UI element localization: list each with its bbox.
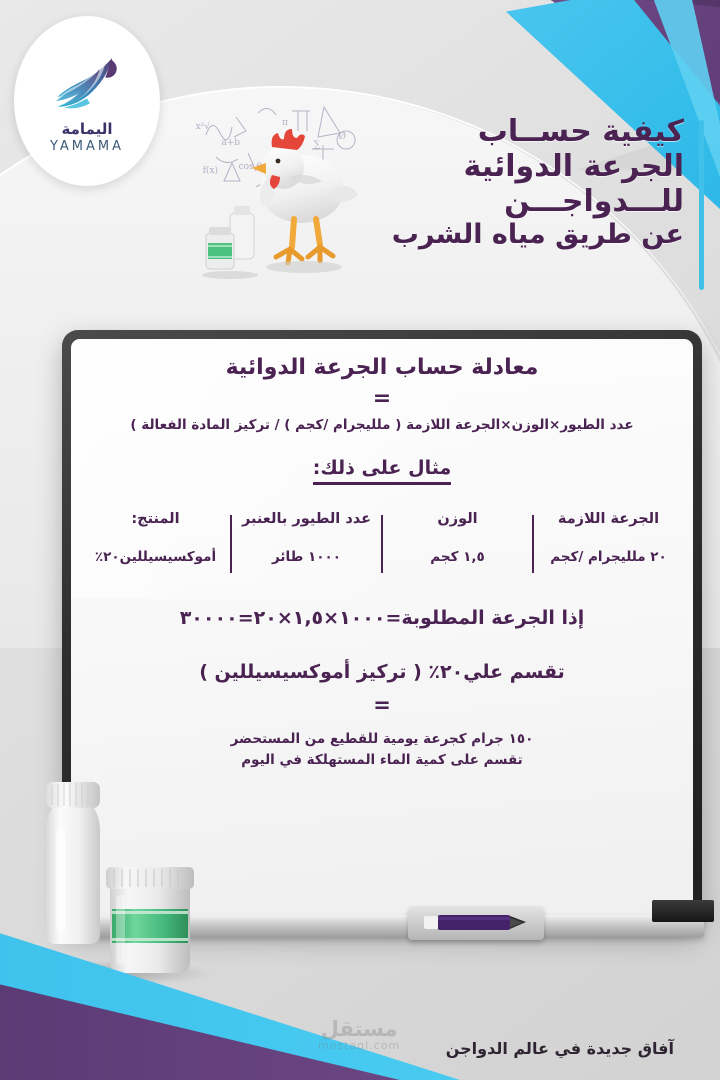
column-value: ١,٥ كجم (386, 549, 529, 565)
hero-illustration: √x² a+b π ∑ Ø f(x) cos θ (196, 95, 386, 280)
logo-text-latin: YAMAMA (50, 139, 124, 154)
medicine-bottles-icon (200, 203, 270, 281)
equation-title: معادلة حساب الجرعة الدوائية (80, 355, 684, 380)
watermark-latin: mostaql.com (318, 1039, 400, 1052)
green-label-jar (102, 865, 198, 983)
hero-title-line-2: الجرعة الدوائية (384, 150, 684, 185)
calculation-line-1: إذا الجرعة المطلوبة=١٠٠٠×١,٥×٢٠=٣٠٠٠٠ (80, 607, 684, 629)
table-column-dose: الجرعة اللازمة ٢٠ ملليجرام /كجم (533, 511, 684, 565)
mostaql-watermark: مستقل mostaql.com (318, 1017, 400, 1052)
example-heading: مثال على ذلك: (313, 457, 452, 485)
equation-body: عدد الطيور×الوزن×الجرعة اللازمة ( ملليجر… (80, 417, 684, 433)
calculation-line-2: تقسم علي٢٠٪ ( تركيز أموكسيسيللين ) (80, 661, 684, 683)
calculation-equals-sign: = (80, 693, 684, 717)
hero-accent-bar (699, 120, 704, 290)
column-header: الوزن (386, 511, 529, 527)
hero-title-line-3: للـــدواجـــن (384, 185, 684, 220)
whiteboard-content: معادلة حساب الجرعة الدوائية = عدد الطيور… (80, 355, 684, 771)
column-header: عدد الطيور بالعنبر (235, 511, 378, 527)
svg-text:f(x): f(x) (203, 165, 218, 176)
table-column-product: المنتج: أموكسيسيللين٢٠٪ (80, 511, 231, 565)
bird-logo-icon (45, 48, 129, 118)
equation-equals-sign: = (80, 386, 684, 411)
watermark-arabic: مستقل (318, 1017, 400, 1041)
table-column-weight: الوزن ١,٥ كجم (382, 511, 533, 565)
calculation-result-line-2: تقسم على كمية الماء المستهلكة في اليوم (80, 750, 684, 771)
table-column-bird-count: عدد الطيور بالعنبر ١٠٠٠ طائر (231, 511, 382, 565)
column-header: الجرعة اللازمة (537, 511, 680, 527)
svg-text:√x²: √x² (196, 121, 210, 132)
dose-table: الجرعة اللازمة ٢٠ ملليجرام /كجم الوزن ١,… (80, 511, 684, 565)
column-value: أموكسيسيللين٢٠٪ (84, 549, 227, 565)
calculation-result-line-1: ١٥٠ جرام كجرعة يومية للقطيع من المستحضر (80, 729, 684, 750)
whiteboard-marker (424, 914, 534, 931)
column-header: المنتج: (84, 511, 227, 527)
hero-title-line-1: كيفية حســاب (384, 115, 684, 150)
infographic-canvas: اليمامة YAMAMA √x² a+b (0, 0, 720, 1080)
brand-logo: اليمامة YAMAMA (14, 16, 160, 186)
column-value: ١٠٠٠ طائر (235, 549, 378, 565)
whiteboard-eraser (652, 900, 714, 922)
footer-slogan: آفاق جديدة في عالم الدواجن (446, 1039, 674, 1058)
example-heading-wrap: مثال على ذلك: (80, 457, 684, 485)
hero-title-line-4: عن طريق مياه الشرب (384, 219, 684, 250)
column-value: ٢٠ ملليجرام /كجم (537, 549, 680, 565)
hero-title: كيفية حســاب الجرعة الدوائية للـــدواجــ… (384, 115, 684, 251)
logo-text-arabic: اليمامة (62, 120, 113, 138)
